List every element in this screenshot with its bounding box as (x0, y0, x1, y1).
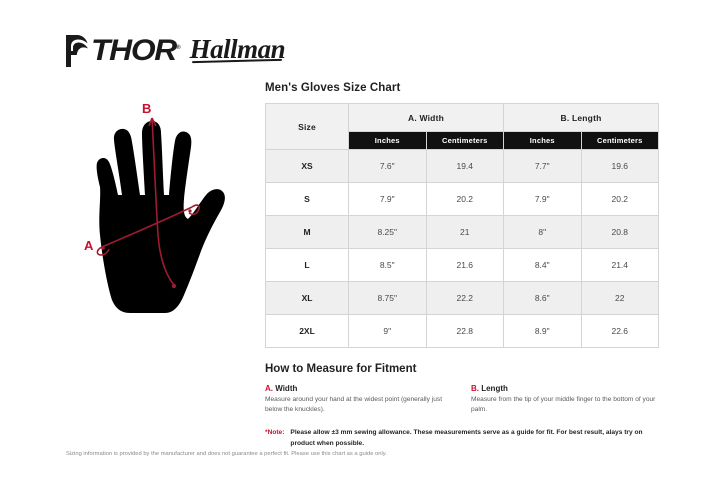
how-to-measure-title: How to Measure for Fitment (265, 363, 659, 375)
table-row: 2XL 9" 22.8 8.9" 22.6 (266, 315, 659, 348)
cell-length-centimeters: 20.8 (581, 216, 659, 249)
diagram-label-a: A (84, 238, 94, 253)
cell-length-centimeters: 22.6 (581, 315, 659, 348)
table-row: M 8.25" 21 8" 20.8 (266, 216, 659, 249)
table-row: S 7.9" 20.2 7.9" 20.2 (266, 183, 659, 216)
thor-wordmark: THOR® (91, 36, 181, 66)
cell-width-inches: 8.5" (349, 249, 427, 282)
cell-size: S (266, 183, 349, 216)
size-chart-table: Size A. Width B. Length Inches Centimete… (265, 103, 659, 348)
cell-length-centimeters: 19.6 (581, 150, 659, 183)
registered-mark: ® (176, 45, 181, 51)
sizing-note-label: *Note: (265, 428, 284, 448)
cell-width-centimeters: 21 (426, 216, 504, 249)
hand-measurement-diagram: A B (70, 95, 265, 315)
cell-width-inches: 7.6" (349, 150, 427, 183)
how-to-width-name: Width (273, 384, 297, 393)
cell-width-centimeters: 19.4 (426, 150, 504, 183)
cell-width-centimeters: 22.8 (426, 315, 504, 348)
table-header-row-groups: Size A. Width B. Length (266, 104, 659, 132)
cell-length-inches: 7.7" (504, 150, 582, 183)
how-to-measure-section: How to Measure for Fitment A. Width Meas… (265, 363, 659, 449)
cell-width-inches: 8.75" (349, 282, 427, 315)
disclaimer-footer: Sizing information is provided by the ma… (66, 449, 396, 459)
cell-length-centimeters: 22 (581, 282, 659, 315)
column-group-length: B. Length (504, 104, 659, 132)
thor-helmet-icon (64, 34, 90, 68)
cell-size: XS (266, 150, 349, 183)
brand-logo-bar: THOR® Hallman (64, 30, 285, 72)
column-header-width-centimeters: Centimeters (426, 132, 504, 150)
cell-width-centimeters: 20.2 (426, 183, 504, 216)
size-chart-content: Men's Gloves Size Chart Size A. Width B.… (265, 82, 659, 449)
cell-size: L (266, 249, 349, 282)
table-row: XL 8.75" 22.2 8.6" 22 (266, 282, 659, 315)
how-to-length-text: Measure from the tip of your middle fing… (471, 395, 659, 415)
cell-size: 2XL (266, 315, 349, 348)
cell-width-inches: 9" (349, 315, 427, 348)
cell-length-inches: 8.6" (504, 282, 582, 315)
table-row: L 8.5" 21.6 8.4" 21.4 (266, 249, 659, 282)
column-header-size: Size (266, 104, 349, 150)
column-header-width-inches: Inches (349, 132, 427, 150)
cell-size: M (266, 216, 349, 249)
diagram-label-b: B (142, 101, 151, 116)
cell-length-inches: 8.4" (504, 249, 582, 282)
cell-width-inches: 7.9" (349, 183, 427, 216)
how-to-measure-width: A. Width Measure around your hand at the… (265, 384, 453, 415)
column-group-width: A. Width (349, 104, 504, 132)
how-to-length-name: Length (479, 384, 508, 393)
cell-width-centimeters: 22.2 (426, 282, 504, 315)
how-to-width-letter: A. (265, 384, 273, 393)
table-row: XS 7.6" 19.4 7.7" 19.6 (266, 150, 659, 183)
how-to-length-letter: B. (471, 384, 479, 393)
how-to-measure-columns: A. Width Measure around your hand at the… (265, 384, 659, 415)
how-to-measure-length: B. Length Measure from the tip of your m… (471, 384, 659, 415)
cell-width-inches: 8.25" (349, 216, 427, 249)
cell-width-centimeters: 21.6 (426, 249, 504, 282)
sizing-note-text: Please allow ±3 mm sewing allowance. The… (290, 428, 650, 448)
cell-size: XL (266, 282, 349, 315)
hand-silhouette-icon (97, 121, 225, 313)
table-body: XS 7.6" 19.4 7.7" 19.6 S 7.9" 20.2 7.9" … (266, 150, 659, 348)
column-header-length-centimeters: Centimeters (581, 132, 659, 150)
cell-length-centimeters: 20.2 (581, 183, 659, 216)
cell-length-centimeters: 21.4 (581, 249, 659, 282)
table-header: Size A. Width B. Length Inches Centimete… (266, 104, 659, 150)
page-title: Men's Gloves Size Chart (265, 82, 659, 94)
how-to-length-label: B. Length (471, 384, 659, 393)
cell-length-inches: 7.9" (504, 183, 582, 216)
how-to-width-label: A. Width (265, 384, 453, 393)
cell-length-inches: 8" (504, 216, 582, 249)
thor-logo: THOR® (64, 34, 176, 68)
cell-length-inches: 8.9" (504, 315, 582, 348)
column-header-length-inches: Inches (504, 132, 582, 150)
hallman-logo: Hallman (190, 36, 286, 63)
how-to-width-text: Measure around your hand at the widest p… (265, 395, 453, 415)
sizing-note: *Note: Please allow ±3 mm sewing allowan… (265, 428, 659, 448)
